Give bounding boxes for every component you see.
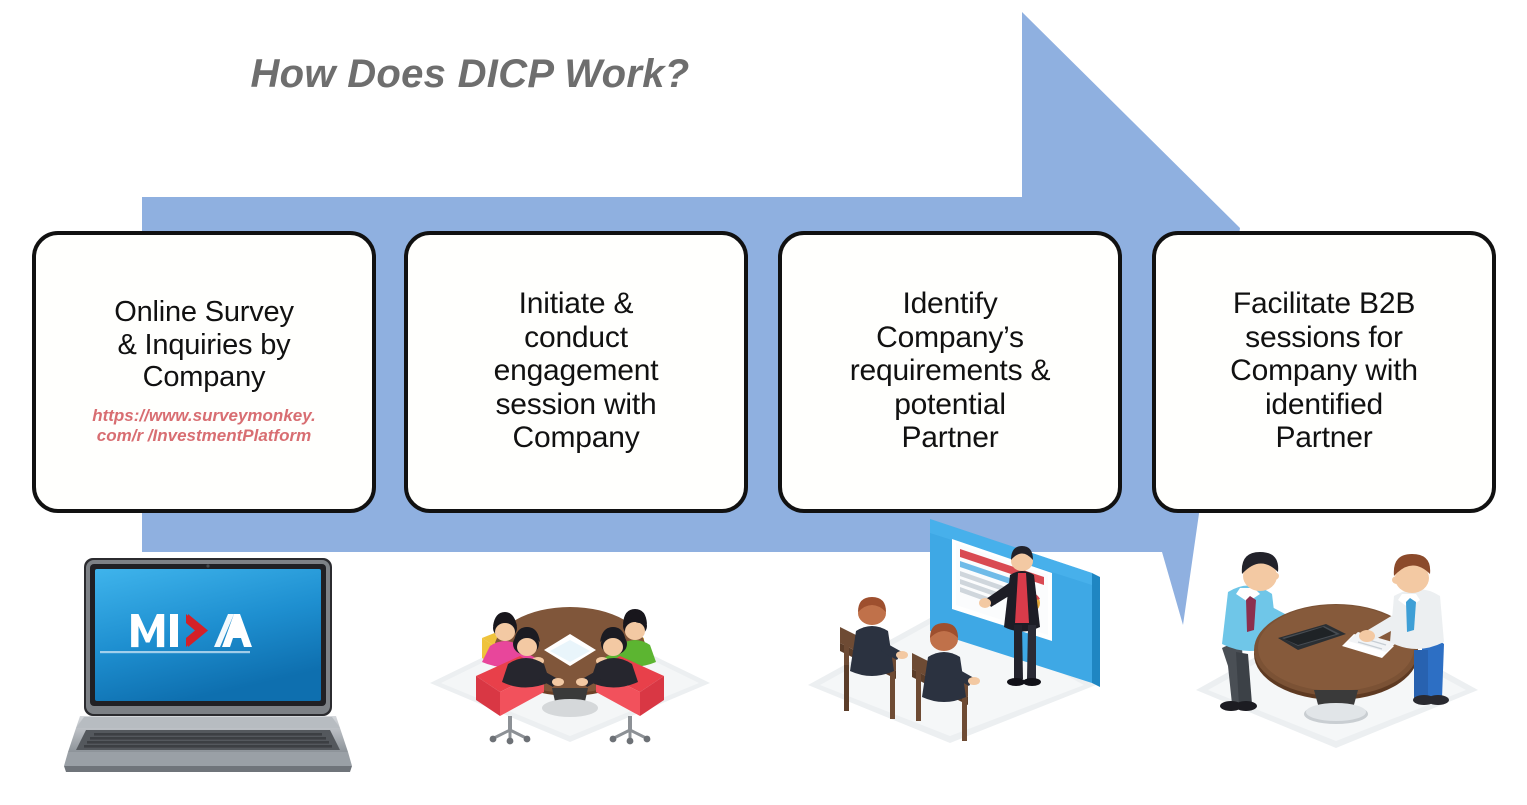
step-box-4-label: Facilitate B2B sessions for Company with… bbox=[1230, 287, 1418, 455]
step-box-2[interactable]: Initiate & conduct engagement session wi… bbox=[404, 231, 748, 513]
step-box-3-label: Identify Company’s requirements & potent… bbox=[850, 287, 1051, 455]
step-box-3[interactable]: Identify Company’s requirements & potent… bbox=[778, 231, 1122, 513]
diagram-canvas: How Does DICP Work? Online Survey & Inqu… bbox=[0, 0, 1527, 805]
step-box-4[interactable]: Facilitate B2B sessions for Company with… bbox=[1152, 231, 1496, 513]
b2b-illustration bbox=[1186, 520, 1486, 750]
meeting-illustration bbox=[424, 520, 716, 745]
step-box-1-label: Online Survey & Inquiries by Company bbox=[114, 296, 294, 393]
presentation-illustration bbox=[800, 515, 1100, 745]
laptop-illustration bbox=[62, 556, 354, 781]
step-box-1[interactable]: Online Survey & Inquiries by Company htt… bbox=[32, 231, 376, 513]
page-title: How Does DICP Work? bbox=[0, 52, 940, 97]
survey-url-link[interactable]: https://www.surveymonkey. com/r /Investm… bbox=[92, 406, 316, 446]
step-box-2-label: Initiate & conduct engagement session wi… bbox=[494, 287, 659, 455]
